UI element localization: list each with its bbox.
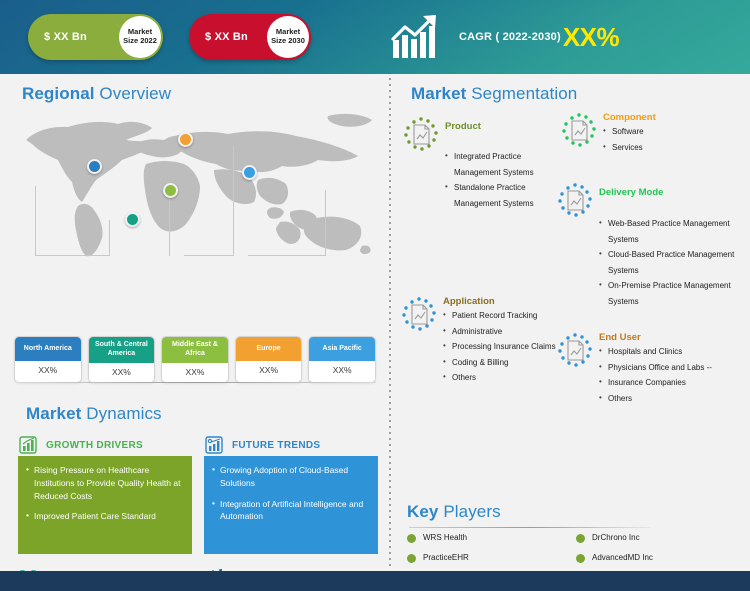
market-size-2022-amount: $ XX Bn [44, 31, 87, 43]
growth-drivers-block: GROWTH DRIVERS Rising Pressure on Health… [18, 434, 192, 554]
segment-product-item: Standalone Practice Management Systems [445, 180, 563, 211]
document-chart-icon [401, 296, 437, 332]
segment-component: Component Software Services [561, 112, 741, 155]
segment-end-user-item: Physicians Office and Labs -- [599, 360, 712, 376]
segment-application-item: Patient Record Tracking [443, 308, 556, 324]
segment-delivery-mode-item: Web-Based Practice Management Systems [599, 216, 747, 247]
segment-end-user-header: End User Hospitals and Clinics Physician… [557, 332, 747, 406]
bullet-dot-icon [407, 534, 416, 543]
market-size-2030-amount: $ XX Bn [205, 31, 248, 43]
segment-delivery-mode-list: Web-Based Practice Management Systems Cl… [599, 216, 747, 310]
region-box-row: North America XX% South & Central Americ… [14, 336, 376, 383]
growth-drivers-label: GROWTH DRIVERS [46, 440, 143, 451]
document-chart-icon [557, 332, 593, 368]
key-players-title-bold: Key [407, 502, 439, 521]
segment-end-user-name: End User [599, 332, 712, 343]
region-name-asia-pacific: Asia Pacific [309, 337, 375, 361]
bullet-dot-icon [407, 554, 416, 563]
region-box-asia-pacific[interactable]: Asia Pacific XX% [308, 336, 376, 383]
segment-delivery-mode: Delivery Mode Web-Based Practice Managem… [557, 182, 747, 310]
segment-component-name: Component [603, 112, 656, 123]
regional-overview-title: Regional Overview [22, 84, 171, 104]
key-players-title: Key Players [407, 502, 501, 522]
region-name-south-central-america: South & Central America [89, 337, 155, 363]
key-player-name: AdvancedMD Inc [592, 553, 653, 564]
section-separator [18, 382, 376, 383]
market-dynamics-title: Market Dynamics [26, 404, 162, 424]
segment-end-user-item: Hospitals and Clinics [599, 344, 712, 360]
document-chart-icon [561, 112, 597, 148]
segment-delivery-mode-name: Delivery Mode [599, 182, 663, 198]
left-panel: Regional Overview [0, 74, 389, 571]
segment-application-list: Patient Record Tracking Administrative P… [443, 308, 556, 386]
region-value-europe: XX% [236, 361, 302, 380]
key-player-item: PracticeEHR [407, 553, 576, 564]
region-name-north-america: North America [15, 337, 81, 361]
map-marker-south-central-america[interactable] [125, 212, 140, 227]
segment-end-user-item: Insurance Companies [599, 375, 712, 391]
segment-delivery-mode-item: On-Premise Practice Management Systems [599, 278, 747, 309]
key-player-name: PracticeEHR [423, 553, 469, 564]
map-marker-middle-east-africa[interactable] [163, 183, 178, 198]
market-size-2030-line2: Size 2030 [271, 37, 305, 46]
segment-application: Application Patient Record Tracking Admi… [401, 296, 576, 386]
leader-line-middle-east-africa [169, 192, 170, 256]
growth-driver-item: Rising Pressure on Healthcare Institutio… [26, 464, 182, 502]
market-dynamics-grid: GROWTH DRIVERS Rising Pressure on Health… [18, 434, 378, 591]
region-value-north-america: XX% [15, 361, 81, 380]
segment-end-user-item: Others [599, 391, 712, 407]
future-trends-block: FUTURE TRENDS Growing Adoption of Cloud-… [204, 434, 378, 554]
world-map [18, 110, 378, 260]
segmentation-title-bold: Market [411, 84, 466, 103]
right-panel: Market Segmentation [389, 74, 750, 571]
key-player-name: DrChrono Inc [592, 533, 640, 544]
leader-line-north-america [35, 186, 93, 256]
key-player-item: WRS Health [407, 533, 576, 544]
bullet-dot-icon [576, 534, 585, 543]
document-chart-icon [557, 182, 593, 218]
future-trends-label: FUTURE TRENDS [232, 440, 320, 451]
future-trend-item: Integration of Artificial Intelligence a… [212, 498, 368, 524]
key-player-item: AdvancedMD Inc [576, 553, 745, 564]
region-box-north-america[interactable]: North America XX% [14, 336, 82, 383]
segment-component-header: Component Software Services [561, 112, 741, 155]
segment-component-item: Software [603, 124, 656, 140]
future-trend-item: Growing Adoption of Cloud-Based Solution… [212, 464, 368, 490]
footer-bar [0, 571, 750, 591]
segment-delivery-mode-header: Delivery Mode [557, 182, 747, 218]
key-player-item: DrChrono Inc [576, 533, 745, 544]
region-value-middle-east-africa: XX% [162, 363, 228, 382]
market-size-2022-pill: $ XX Bn Market Size 2022 [28, 14, 163, 60]
key-players-title-rest: Players [443, 502, 500, 521]
region-value-asia-pacific: XX% [309, 361, 375, 380]
map-marker-north-america[interactable] [87, 159, 102, 174]
market-size-2022-line2: Size 2022 [123, 37, 157, 46]
segment-application-item: Processing Insurance Claims [443, 339, 556, 355]
market-size-2030-badge: Market Size 2030 [267, 16, 309, 58]
key-players-rule [409, 527, 651, 528]
map-marker-asia-pacific[interactable] [242, 165, 257, 180]
market-size-2030-pill: $ XX Bn Market Size 2030 [189, 14, 311, 60]
segment-application-item: Coding & Billing [443, 355, 556, 371]
trend-analysis-icon [204, 435, 224, 455]
regional-title-bold: Regional [22, 84, 95, 103]
segment-component-list: Software Services [603, 124, 656, 155]
segment-application-item: Administrative [443, 324, 556, 340]
cagr-label: CAGR ( 2022-2030) [459, 31, 561, 43]
segment-product-name: Product [445, 116, 481, 132]
dynamics-title-bold: Market [26, 404, 81, 423]
region-box-middle-east-africa[interactable]: Middle East & Africa XX% [161, 336, 229, 383]
bullet-dot-icon [576, 554, 585, 563]
growth-drivers-header: GROWTH DRIVERS [18, 434, 192, 456]
segment-application-name: Application [443, 296, 556, 307]
segment-end-user-list: Hospitals and Clinics Physicians Office … [599, 344, 712, 406]
region-box-europe[interactable]: Europe XX% [235, 336, 303, 383]
leader-line-asia-pacific [248, 190, 326, 256]
growth-driver-item: Improved Patient Care Standard [26, 510, 182, 523]
region-name-middle-east-africa: Middle East & Africa [162, 337, 228, 363]
dynamics-title-rest: Dynamics [86, 404, 161, 423]
future-trends-card: Growing Adoption of Cloud-Based Solution… [204, 456, 378, 554]
segment-component-item: Services [603, 140, 656, 156]
region-box-south-central-america[interactable]: South & Central America XX% [88, 336, 156, 383]
future-trends-header: FUTURE TRENDS [204, 434, 378, 456]
cagr-block: CAGR ( 2022-2030) XX% [389, 14, 619, 60]
segment-end-user: End User Hospitals and Clinics Physician… [557, 332, 747, 406]
segment-product-list: Integrated Practice Management Systems S… [445, 149, 563, 211]
cagr-value: XX% [563, 22, 619, 53]
segmentation-title-rest: Segmentation [471, 84, 577, 103]
region-name-europe: Europe [236, 337, 302, 361]
key-player-name: WRS Health [423, 533, 467, 544]
leader-line-south-central-america [88, 220, 110, 256]
document-chart-icon [403, 116, 439, 152]
header-bar: $ XX Bn Market Size 2022 $ XX Bn Market … [0, 0, 750, 74]
market-segmentation-title: Market Segmentation [411, 84, 577, 104]
regional-title-rest: Overview [99, 84, 171, 103]
segment-delivery-mode-item: Cloud-Based Practice Management Systems [599, 247, 747, 278]
segment-application-header: Application Patient Record Tracking Admi… [401, 296, 576, 386]
infographic-page: $ XX Bn Market Size 2022 $ XX Bn Market … [0, 0, 750, 591]
growth-bar-chart-arrow-icon [389, 14, 445, 60]
bar-chart-growth-icon [18, 435, 38, 455]
segment-product-header: Product [403, 116, 563, 152]
segment-application-item: Others [443, 370, 556, 386]
growth-drivers-card: Rising Pressure on Healthcare Institutio… [18, 456, 192, 554]
map-marker-europe[interactable] [178, 132, 193, 147]
leader-line-europe [184, 146, 234, 256]
segment-product: Product Integrated Practice Management S… [403, 116, 563, 211]
region-value-south-central-america: XX% [89, 363, 155, 382]
segment-product-item: Integrated Practice Management Systems [445, 149, 563, 180]
market-size-2022-badge: Market Size 2022 [119, 16, 161, 58]
